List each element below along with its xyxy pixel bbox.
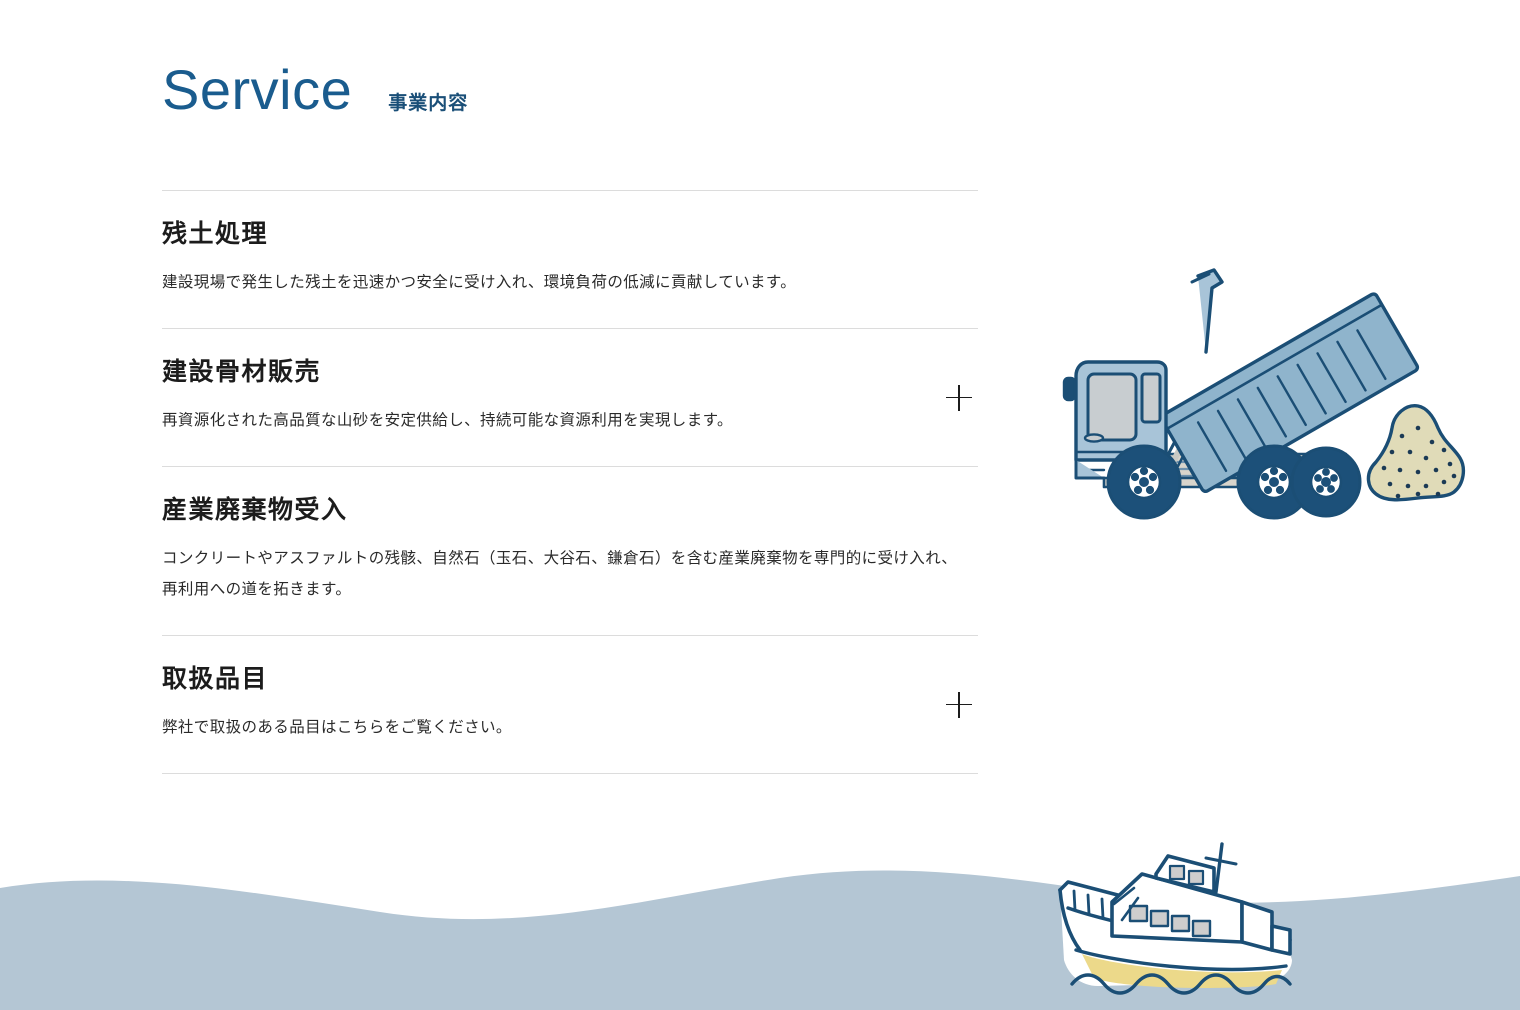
divider-bottom [162,773,978,774]
page-title-ja: 事業内容 [388,88,468,115]
plus-icon[interactable] [946,692,972,718]
plus-icon[interactable] [946,385,972,411]
page-title-en: Service [162,62,352,118]
service-page: Service 事業内容 残土処理 建設現場で発生した残土を迅速かつ安全に受け入… [0,0,1520,1010]
dump-truck-illustration [1046,252,1476,522]
service-list: 残土処理 建設現場で発生した残土を迅速かつ安全に受け入れ、環境負荷の低減に貢献し… [162,190,978,774]
service-description: 再資源化された高品質な山砂を安定供給し、持続可能な資源利用を実現します。 [162,405,972,436]
service-description: 弊社で取扱のある品目はこちらをご覧ください。 [162,712,972,743]
service-description: 建設現場で発生した残土を迅速かつ安全に受け入れ、環境負荷の低減に貢献しています。 [162,267,972,298]
service-title: 取扱品目 [162,664,978,694]
service-title: 残土処理 [162,219,978,249]
service-description: コンクリートやアスファルトの残骸、自然石（玉石、大谷石、鎌倉石）を含む産業廃棄物… [162,543,972,605]
service-title: 建設骨材販売 [162,357,978,387]
sand-pile-illustration [1368,406,1463,500]
service-item-sangyo-haikibutsu[interactable]: 産業廃棄物受入 コンクリートやアスファルトの残骸、自然石（玉石、大谷石、鎌倉石）… [162,467,978,635]
service-item-zando[interactable]: 残土処理 建設現場で発生した残土を迅速かつ安全に受け入れ、環境負荷の低減に貢献し… [162,191,978,328]
fishing-boat-illustration [1046,838,1316,1010]
service-item-kotsuzai[interactable]: 建設骨材販売 再資源化された高品質な山砂を安定供給し、持続可能な資源利用を実現し… [162,329,978,466]
service-title: 産業廃棄物受入 [162,495,978,525]
service-item-toriatsukai-hinmoku[interactable]: 取扱品目 弊社で取扱のある品目はこちらをご覧ください。 [162,636,978,773]
page-header: Service 事業内容 [162,62,468,118]
